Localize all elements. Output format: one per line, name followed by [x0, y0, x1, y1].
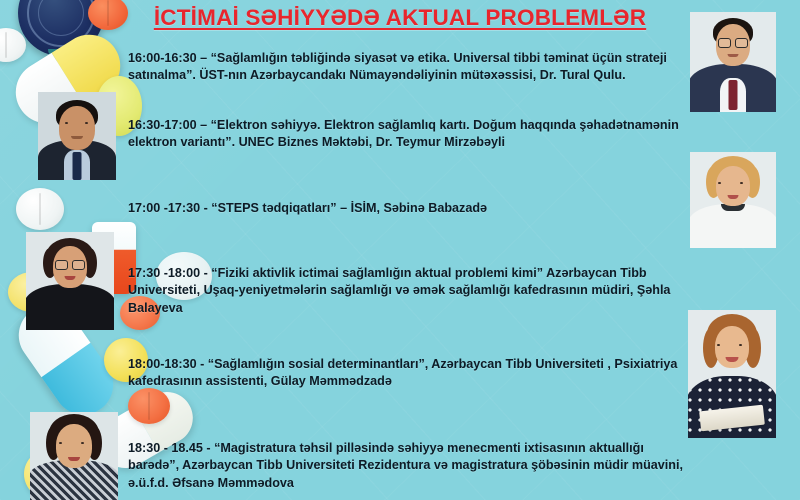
tablet-orange-bottom-icon [128, 388, 170, 424]
tablet-white-topleft-icon [0, 28, 26, 62]
necktie-icon [729, 80, 738, 110]
eyeglasses-icon [55, 260, 85, 269]
speaker-photo-right-1 [690, 12, 776, 112]
speaker-photo-right-2 [690, 152, 776, 248]
tablet-white-left-icon [16, 188, 64, 230]
speaker-photo-right-3 [688, 310, 776, 438]
poster-canvas: İCTİMAİ SƏHİYYƏDƏ AKTUAL PROBLEMLƏR [0, 0, 800, 500]
agenda-entry-2: 16:30-17:00 – “Elektron səhiyyə. Elektro… [128, 117, 700, 152]
poster-title: İCTİMAİ SƏHİYYƏDƏ AKTUAL PROBLEMLƏR [0, 5, 800, 31]
agenda-entry-6: 18:30 - 18.45 - “Magistratura təhsil pil… [128, 440, 688, 492]
eyeglasses-icon [718, 38, 748, 47]
speaker-photo-left-1 [38, 92, 116, 180]
necktie-icon [73, 152, 82, 180]
agenda-entry-4: 17:30 -18:00 - “Fiziki aktivlik ictimai … [128, 265, 684, 317]
agenda-entry-5: 18:00-18:30 - “Sağlamlığın sosial determ… [128, 356, 700, 391]
speaker-photo-left-3 [30, 412, 118, 500]
speaker-photo-left-2 [26, 232, 114, 330]
agenda-entry-1: 16:00-16:30 – “Sağlamlığın təbliğində si… [128, 50, 684, 85]
agenda-entry-3: 17:00 -17:30 - “STEPS tədqiqatları” – İS… [128, 200, 684, 217]
